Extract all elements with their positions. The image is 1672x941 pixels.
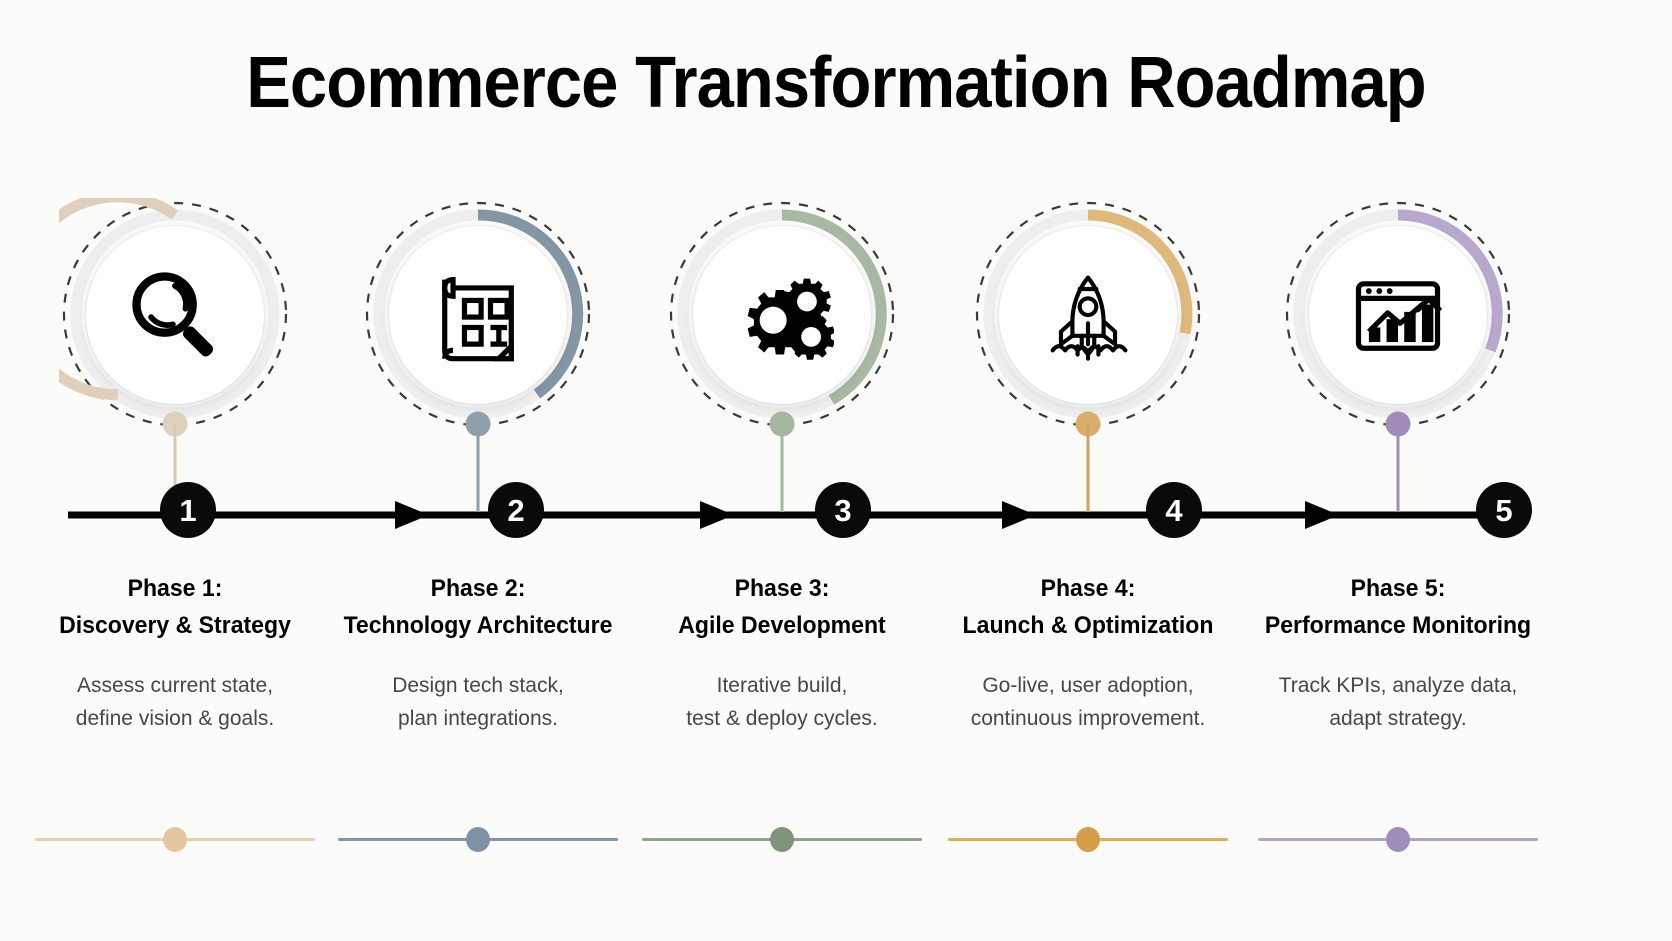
phase-desc-3: Iterative build, test & deploy cycles. [632, 670, 932, 735]
step-number-4[interactable]: 4 [1146, 482, 1202, 538]
slider-knob-2[interactable] [466, 827, 490, 852]
infographic-canvas: Ecommerce Transformation Roadmap [0, 0, 1672, 941]
phase-title-3: Phase 3: Agile Development [638, 570, 926, 644]
connector-stem-5 [1397, 424, 1400, 512]
phase-icon-disc-2 [389, 226, 567, 404]
slider-knob-3[interactable] [770, 827, 794, 852]
phase-column-1: Phase 1: Discovery & Strategy Assess cur… [25, 190, 325, 890]
phase-badge-5 [1248, 190, 1548, 440]
slider-knob-4[interactable] [1076, 827, 1100, 852]
rocket-icon [1036, 263, 1140, 367]
phase-icon-disc-1 [86, 226, 264, 404]
phase-slider-3[interactable] [642, 827, 922, 851]
phase-column-3: Phase 3: Agile Development Iterative bui… [632, 190, 932, 890]
phase-desc-4: Go-live, user adoption, continuous impro… [938, 670, 1238, 735]
phase-title-line2: Agile Development [638, 607, 926, 644]
slider-knob-5[interactable] [1386, 827, 1410, 852]
phase-desc-5: Track KPIs, analyze data, adapt strategy… [1248, 670, 1548, 735]
phase-desc-line2: define vision & goals. [25, 703, 325, 736]
phase-desc-line1: Design tech stack, [328, 670, 628, 703]
phase-slider-5[interactable] [1258, 827, 1538, 851]
magnifier-icon [123, 263, 227, 367]
phase-desc-line2: adapt strategy. [1248, 703, 1548, 736]
phase-desc-1: Assess current state, define vision & go… [25, 670, 325, 735]
gears-icon [730, 263, 834, 367]
phase-column-5: Phase 5: Performance Monitoring Track KP… [1248, 190, 1548, 890]
phase-title-line1: Phase 5: [1254, 570, 1542, 607]
phase-badge-4 [938, 190, 1238, 440]
step-number-3[interactable]: 3 [815, 482, 871, 538]
phase-title-line2: Technology Architecture [334, 607, 622, 644]
connector-stem-3 [781, 424, 784, 512]
phase-title-5: Phase 5: Performance Monitoring [1254, 570, 1542, 644]
phase-slider-1[interactable] [35, 827, 315, 851]
phase-desc-line2: test & deploy cycles. [632, 703, 932, 736]
phase-desc-line1: Iterative build, [632, 670, 932, 703]
phase-title-1: Phase 1: Discovery & Strategy [31, 570, 319, 644]
page-title: Ecommerce Transformation Roadmap [59, 42, 1614, 124]
phase-icon-disc-3 [693, 226, 871, 404]
analytics-icon [1346, 263, 1450, 367]
phase-title-line1: Phase 4: [944, 570, 1232, 607]
phase-desc-line1: Go-live, user adoption, [938, 670, 1238, 703]
step-number-5[interactable]: 5 [1476, 482, 1532, 538]
slider-knob-1[interactable] [163, 827, 187, 852]
phase-desc-2: Design tech stack, plan integrations. [328, 670, 628, 735]
phase-title-line2: Performance Monitoring [1254, 607, 1542, 644]
phase-title-4: Phase 4: Launch & Optimization [944, 570, 1232, 644]
phase-desc-line1: Track KPIs, analyze data, [1248, 670, 1548, 703]
phase-column-2: Phase 2: Technology Architecture Design … [328, 190, 628, 890]
phase-title-line1: Phase 1: [31, 570, 319, 607]
phase-badge-3 [632, 190, 932, 440]
phase-badge-1 [25, 190, 325, 440]
blueprint-icon [426, 263, 530, 367]
connector-stem-2 [477, 424, 480, 512]
phase-slider-4[interactable] [948, 827, 1228, 851]
phase-desc-line2: plan integrations. [328, 703, 628, 736]
phase-title-line1: Phase 3: [638, 570, 926, 607]
step-number-2[interactable]: 2 [488, 482, 544, 538]
phase-icon-disc-5 [1309, 226, 1487, 404]
phase-title-line2: Discovery & Strategy [31, 607, 319, 644]
connector-stem-4 [1087, 424, 1090, 512]
phase-column-4: Phase 4: Launch & Optimization Go-live, … [938, 190, 1238, 890]
phase-title-line2: Launch & Optimization [944, 607, 1232, 644]
phase-desc-line1: Assess current state, [25, 670, 325, 703]
phase-slider-2[interactable] [338, 827, 618, 851]
phase-badge-2 [328, 190, 628, 440]
step-number-1[interactable]: 1 [160, 482, 216, 538]
phase-desc-line2: continuous improvement. [938, 703, 1238, 736]
phase-icon-disc-4 [999, 226, 1177, 404]
phase-title-2: Phase 2: Technology Architecture [334, 570, 622, 644]
phase-title-line1: Phase 2: [334, 570, 622, 607]
